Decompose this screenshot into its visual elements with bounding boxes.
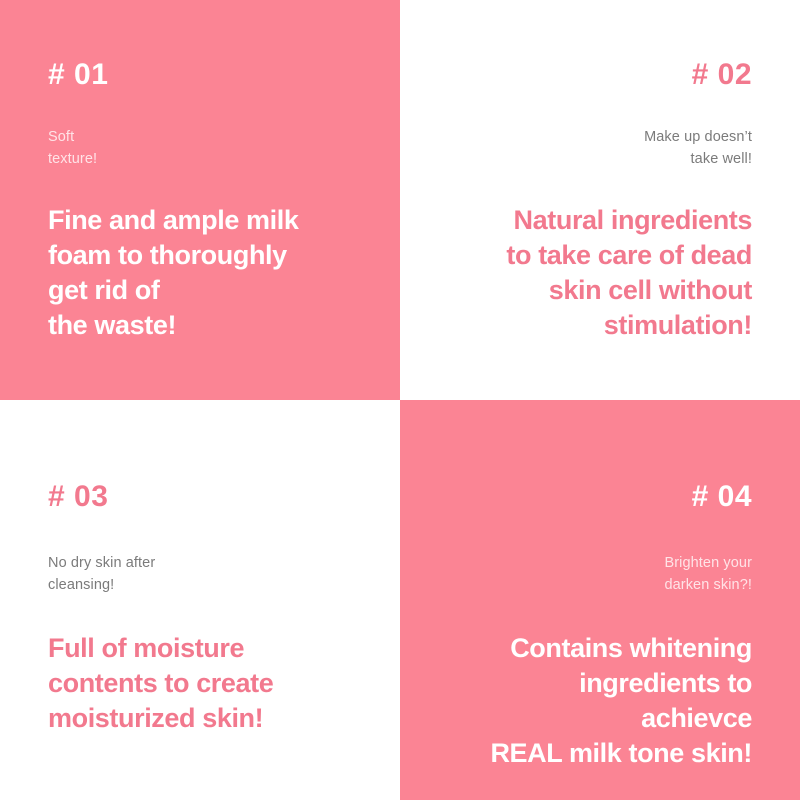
feature-panel-02-content: # 02 Make up doesn’t take well! Natural … [400, 0, 800, 400]
feature-grid: # 01 Soft texture! Fine and ample milk f… [0, 0, 800, 800]
feature-panel-04-content: # 04 Brighten your darken skin?! Contain… [400, 400, 800, 800]
feature-subtitle-04: Brighten your darken skin?! [448, 552, 752, 597]
feature-headline-03: Full of moisture contents to create mois… [48, 631, 352, 736]
feature-number-04: # 04 [448, 482, 752, 512]
feature-panel-01-content: # 01 Soft texture! Fine and ample milk f… [0, 0, 400, 400]
feature-number-03: # 03 [48, 482, 352, 512]
feature-panel-02: # 02 Make up doesn’t take well! Natural … [400, 0, 800, 400]
feature-number-02: # 02 [448, 60, 752, 90]
feature-subtitle-01: Soft texture! [48, 126, 352, 171]
feature-panel-03-content: # 03 No dry skin after cleansing! Full o… [0, 400, 400, 800]
feature-headline-04: Contains whitening ingredients to achiev… [418, 631, 752, 771]
feature-panel-01: # 01 Soft texture! Fine and ample milk f… [0, 0, 400, 400]
feature-panel-03: # 03 No dry skin after cleansing! Full o… [0, 400, 400, 800]
feature-headline-02: Natural ingredients to take care of dead… [448, 203, 752, 343]
feature-subtitle-02: Make up doesn’t take well! [448, 126, 752, 171]
feature-number-01: # 01 [48, 60, 352, 90]
feature-subtitle-03: No dry skin after cleansing! [48, 552, 352, 597]
feature-panel-04: # 04 Brighten your darken skin?! Contain… [400, 400, 800, 800]
feature-headline-01: Fine and ample milk foam to thoroughly g… [48, 203, 352, 343]
